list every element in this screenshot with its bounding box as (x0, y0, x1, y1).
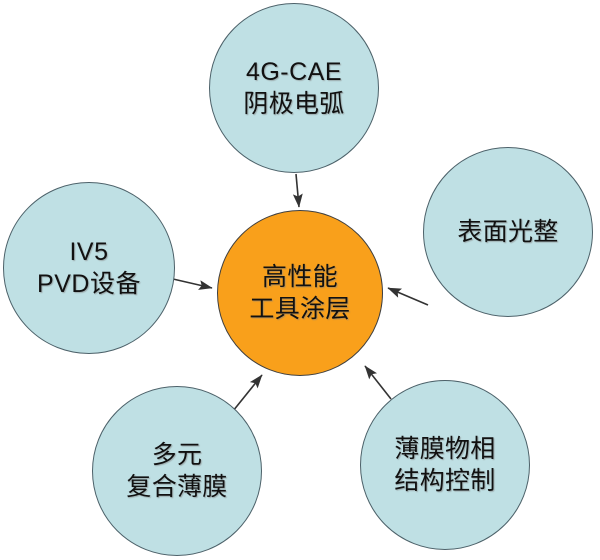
node-multicomponent-composite-film-line2: 复合薄膜 (126, 471, 227, 504)
node-cathodic-arc[interactable]: 4G-CAE 阴极电弧 (209, 3, 379, 173)
edge-pvd-equipment-to-hub (173, 279, 212, 288)
edge-film-phase-structure-control-to-hub (365, 366, 391, 399)
node-multicomponent-composite-film-line1: 多元 (152, 439, 203, 472)
node-cathodic-arc-line2: 阴极电弧 (243, 88, 344, 121)
node-hub-line2: 工具涂层 (249, 293, 350, 326)
node-high-performance-tool-coating[interactable]: 高性能 工具涂层 (217, 210, 383, 376)
node-pvd-equipment-line2: PVD设备 (37, 268, 141, 301)
node-hub-line1: 高性能 (262, 261, 338, 294)
node-surface-finishing-line1: 表面光整 (457, 216, 558, 249)
node-multicomponent-composite-film[interactable]: 多元 复合薄膜 (92, 386, 262, 556)
node-pvd-equipment-line1: IV5 (69, 236, 108, 269)
node-surface-finishing[interactable]: 表面光整 (423, 147, 593, 317)
edge-cathodic-arc-to-hub (296, 174, 299, 207)
node-film-phase-structure-control-line2: 结构控制 (394, 465, 495, 498)
node-cathodic-arc-line1: 4G-CAE (246, 56, 342, 89)
edge-multicomponent-composite-film-to-hub (233, 375, 262, 411)
node-pvd-equipment[interactable]: IV5 PVD设备 (3, 182, 175, 354)
node-film-phase-structure-control-line1: 薄膜物相 (394, 433, 495, 466)
node-film-phase-structure-control[interactable]: 薄膜物相 结构控制 (360, 380, 530, 550)
edge-surface-finishing-to-hub (388, 288, 428, 305)
diagram-canvas: 4G-CAE 阴极电弧 IV5 PVD设备 表面光整 多元 复合薄膜 薄膜物相 … (0, 0, 600, 560)
